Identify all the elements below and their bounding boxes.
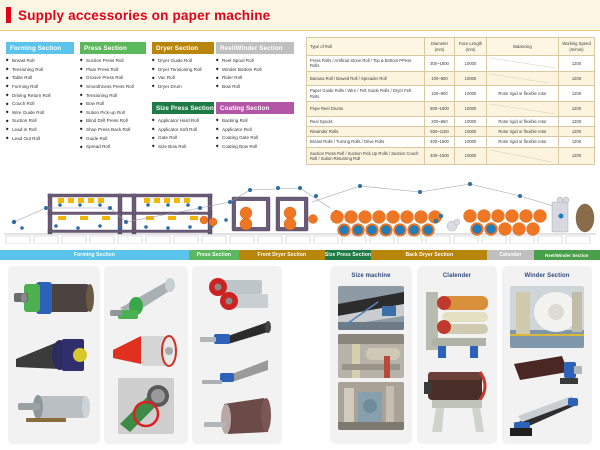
photo-size-machine-frame: [338, 334, 404, 378]
list-item: Groove Press Roll: [80, 75, 146, 81]
list-item: Reel Spool Roll: [216, 58, 294, 64]
cell-diameter: 800~1800: [425, 101, 455, 116]
cell-type: Pope Reel Drums: [307, 101, 425, 116]
cell-diameter: 200~650: [425, 116, 455, 126]
cell-speed: 1200: [559, 71, 595, 86]
cell-face-length: 10000: [455, 71, 487, 86]
cell-speed: 1200: [559, 101, 595, 116]
list-item: Gate Roll: [152, 135, 214, 141]
list-item: Sution Pick-up Roll: [80, 110, 146, 116]
column-header-speed-line1: Working Speed: [562, 41, 591, 46]
list-item: Blind Drill Press Roll: [80, 118, 146, 124]
list-item: Forming Roll: [6, 84, 74, 90]
photo-roll-green-bearing-detail: [118, 378, 174, 434]
table-row: Breast Rolls / Turning Rolls / Drive Rol…: [307, 137, 595, 147]
list-item: Tensioning Roll: [6, 67, 74, 73]
list-item: Guide Roll: [80, 136, 146, 142]
cell-balancing: [487, 56, 559, 72]
photo-roll-brown-suction: [198, 396, 276, 438]
section-header-reel-winder: Reel/Winder Section: [216, 42, 294, 54]
cell-diameter: 500~1100: [425, 127, 455, 137]
cell-diameter: 400~1500: [425, 137, 455, 147]
cell-face-length: 10000: [455, 137, 487, 147]
section-header-dryer: Dryer Section: [152, 42, 214, 54]
cell-diameter: 100~800: [425, 86, 455, 102]
list-item: Wire Guide Roll: [6, 110, 74, 116]
cell-diameter: 300~1800: [425, 56, 455, 72]
list-item: Applicator Hard Roll: [152, 118, 214, 124]
list-item: Spread Roll: [80, 144, 146, 150]
column-header-balancing-line1: Balancing: [513, 44, 531, 49]
list-item: Size Bow Roll: [152, 144, 214, 150]
band-front-dryer-section: Front Dryer Section: [239, 250, 325, 260]
section-header-coating: Coating Section: [216, 102, 294, 114]
cell-speed: 1200: [559, 56, 595, 72]
cell-balancing: Rotor rigid or flexible rotor: [487, 86, 559, 102]
spec-table: Type of Roll Diameter (mm) Face Length (…: [306, 37, 595, 165]
photo-roll-green-blue-drive: [14, 274, 94, 326]
photo-roll-red-end-pair: [198, 274, 276, 314]
section-item-list-forming: Breast Roll Tensioning Roll Table Roll F…: [6, 58, 74, 141]
photo-calender-roll-assembly: [422, 362, 492, 432]
list-item: Rider Roll: [216, 75, 294, 81]
photo-panel-rolls-2: [104, 266, 188, 444]
column-header-face-length: Face Length (mm): [455, 38, 487, 56]
list-item: Lead Out Roll: [6, 136, 74, 142]
cell-balancing: [487, 147, 559, 165]
band-reel-winder-section: Reel/Winder Section: [534, 250, 600, 260]
list-item: Lead In Roll: [6, 127, 74, 133]
column-header-face-length-line2: (mm): [466, 47, 476, 52]
list-item: Plain Press Roll: [80, 67, 146, 73]
band-press-section: Press Section: [189, 250, 239, 260]
cell-type: Paper Guide Rolls / Wire / Felt Guide Ro…: [307, 86, 425, 102]
cell-type: Reel Spools: [307, 116, 425, 126]
list-item: Backing Roll: [216, 118, 294, 124]
column-header-speed-line2: (m/min): [569, 47, 583, 52]
table-row: Rewinder Rolls 500~1100 10000 Rotor rigi…: [307, 127, 595, 137]
list-item: Table Roll: [6, 75, 74, 81]
paper-machine-diagram: [0, 172, 600, 244]
list-item: Couch Roll: [6, 101, 74, 107]
column-header-diameter-line1: Diameter: [431, 41, 448, 46]
photo-panel-size-machine: Size machine: [330, 266, 412, 444]
list-item: Coating Gate Roll: [216, 135, 294, 141]
photo-size-machine-closeup: [338, 286, 404, 330]
empty-slash-icon: [490, 74, 555, 84]
list-item: Breast Roll: [6, 58, 74, 64]
table-row: Press Rolls / Artificial Stone Roll / To…: [307, 56, 595, 72]
cell-type: Breast Rolls / Turning Rolls / Drive Rol…: [307, 137, 425, 147]
cell-face-length: 10000: [455, 86, 487, 102]
photo-roll-black-tapered-blue: [198, 318, 276, 354]
section-block-forming: Forming Section Breast Roll Tensioning R…: [6, 42, 74, 144]
band-size-press-section: Size Press Section: [325, 250, 371, 260]
cell-diameter: 100~800: [425, 71, 455, 86]
photo-panel-winder-section: Winder Section: [502, 266, 592, 444]
panel-title-size-machine: Size machine: [330, 266, 412, 279]
list-item: Dryer Tensioning Roll: [152, 67, 214, 73]
section-block-press: Press Section Suction Press Roll Plain P…: [80, 42, 146, 153]
list-item: Smoothness Press Roll: [80, 84, 146, 90]
section-color-band: Forming Section Press Section Front Drye…: [0, 250, 600, 260]
cell-type: Banana Roll / Bowed Roll / Spreader Roll: [307, 71, 425, 86]
empty-slash-icon: [490, 58, 555, 68]
product-photo-panels: Size machine: [0, 266, 600, 448]
column-header-type: Type of Roll: [307, 38, 425, 56]
list-item: Coating Bow Roll: [216, 144, 294, 150]
band-back-dryer-section: Back Dryer Section: [371, 250, 487, 260]
spec-table-container: Type of Roll Diameter (mm) Face Length (…: [306, 37, 594, 165]
photo-winder-bar-assembly: [510, 394, 584, 438]
title-accent-bar: [6, 7, 11, 23]
list-item: Applicator Roll: [216, 127, 294, 133]
cell-face-length: 10000: [455, 127, 487, 137]
cell-balancing: Rotor rigid or flexible rotor: [487, 116, 559, 126]
column-header-diameter: Diameter (mm): [425, 38, 455, 56]
cell-speed: 1200: [559, 137, 595, 147]
poster-page: Supply accessories on paper machine Form…: [0, 0, 600, 450]
section-block-coating: Coating Section Backing Roll Applicator …: [216, 102, 294, 153]
band-calender-section: Calender: [487, 250, 533, 260]
cell-balancing: [487, 101, 559, 116]
section-item-list-size-press: Applicator Hard Roll Applicator Soft Rol…: [152, 118, 214, 150]
cell-balancing: [487, 71, 559, 86]
section-header-size-press: Size Press Section: [152, 102, 214, 114]
section-block-dryer: Dryer Section Dryer Guide Roll Dryer Ten…: [152, 42, 214, 93]
section-header-forming: Forming Section: [6, 42, 74, 54]
section-block-reel-winder: Reel/Winder Section Reel Spool Roll Wind…: [216, 42, 294, 93]
cell-face-length: 10000: [455, 101, 487, 116]
photo-winder-paper-roll: [510, 286, 584, 348]
photo-roll-chrome-green-bearing: [110, 274, 182, 326]
section-item-list-press: Suction Press Roll Plain Press Roll Groo…: [80, 58, 146, 150]
photo-panel-calender: Clalender: [417, 266, 497, 444]
cell-balancing: Rotor rigid or flexible rotor: [487, 127, 559, 137]
list-item: Winder Bottom Roll: [216, 67, 294, 73]
cell-speed: 1200: [559, 116, 595, 126]
list-item: Vac Roll: [152, 75, 214, 81]
column-header-type-line1: Type of Roll: [310, 44, 332, 49]
cell-face-length: 10000: [455, 56, 487, 72]
panel-title-calender: Clalender: [417, 266, 497, 279]
page-header: Supply accessories on paper machine: [0, 0, 600, 31]
photo-winder-shaft-blue: [510, 352, 584, 392]
empty-slash-icon: [490, 104, 555, 114]
page-title: Supply accessories on paper machine: [18, 8, 270, 23]
photo-roll-grey-small-blue: [198, 358, 276, 394]
cell-speed: 1200: [559, 86, 595, 102]
list-item: Bow Roll: [80, 101, 146, 107]
photo-roll-red-cone-spreader: [109, 328, 183, 376]
list-item: Dryer Drum: [152, 84, 214, 90]
photo-size-machine-plant: [338, 382, 404, 430]
section-header-press: Press Section: [80, 42, 146, 54]
table-row: Reel Spools 200~650 10000 Rotor rigid or…: [307, 116, 595, 126]
table-row: Paper Guide Rolls / Wire / Felt Guide Ro…: [307, 86, 595, 102]
cell-balancing: Rotor rigid or flexible rotor: [487, 137, 559, 147]
table-header-row: Type of Roll Diameter (mm) Face Length (…: [307, 38, 595, 56]
cell-type: Press Rolls / Artificial Stone Roll / To…: [307, 56, 425, 72]
section-item-list-coating: Backing Roll Applicator Roll Coating Gat…: [216, 118, 294, 150]
column-header-diameter-line2: (mm): [435, 47, 445, 52]
list-item: Bow Roll: [216, 84, 294, 90]
empty-slash-icon: [490, 150, 555, 163]
list-item: Suction Press Roll: [80, 58, 146, 64]
cell-type: Suction Press Roll / Suction Pick Up Rol…: [307, 147, 425, 165]
list-item: Applicator Soft Roll: [152, 127, 214, 133]
machine-schematic-svg: [0, 172, 600, 244]
list-item: Suction Roll: [6, 118, 74, 124]
cell-diameter: 400~1500: [425, 147, 455, 165]
photo-panel-rolls-3: [192, 266, 282, 444]
table-row: Banana Roll / Bowed Roll / Spreader Roll…: [307, 71, 595, 86]
cell-type: Rewinder Rolls: [307, 127, 425, 137]
list-item: Shoe Press Back Roll: [80, 127, 146, 133]
section-item-list-reel-winder: Reel Spool Roll Winder Bottom Roll Rider…: [216, 58, 294, 90]
cell-speed: 1200: [559, 147, 595, 165]
column-header-balancing: Balancing: [487, 38, 559, 56]
cell-face-length: 10000: [455, 116, 487, 126]
panel-title-winder-section: Winder Section: [502, 266, 592, 279]
band-forming-section: Forming Section: [0, 250, 189, 260]
list-item: Tensioning Roll: [80, 93, 146, 99]
photo-calender-stack-machine: [422, 286, 492, 358]
cell-speed: 1200: [559, 127, 595, 137]
cell-face-length: 10000: [455, 147, 487, 165]
column-header-face-length-line1: Face Length: [459, 41, 482, 46]
spec-table-body: Press Rolls / Artificial Stone Roll / To…: [307, 56, 595, 165]
photo-roll-dark-blue-flange: [14, 329, 94, 379]
list-item: Driving Return Roll: [6, 93, 74, 99]
table-row: Suction Press Roll / Suction Pick Up Rol…: [307, 147, 595, 165]
section-block-size-press: Size Press Section Applicator Hard Roll …: [152, 102, 214, 153]
table-row: Pope Reel Drums 800~1800 10000 1200: [307, 101, 595, 116]
section-item-list-dryer: Dryer Guide Roll Dryer Tensioning Roll V…: [152, 58, 214, 90]
photo-panel-rolls-1: [8, 266, 100, 444]
column-header-working-speed: Working Speed (m/min): [559, 38, 595, 56]
photo-roll-chrome-shaft: [12, 382, 96, 432]
list-item: Dryer Guide Roll: [152, 58, 214, 64]
